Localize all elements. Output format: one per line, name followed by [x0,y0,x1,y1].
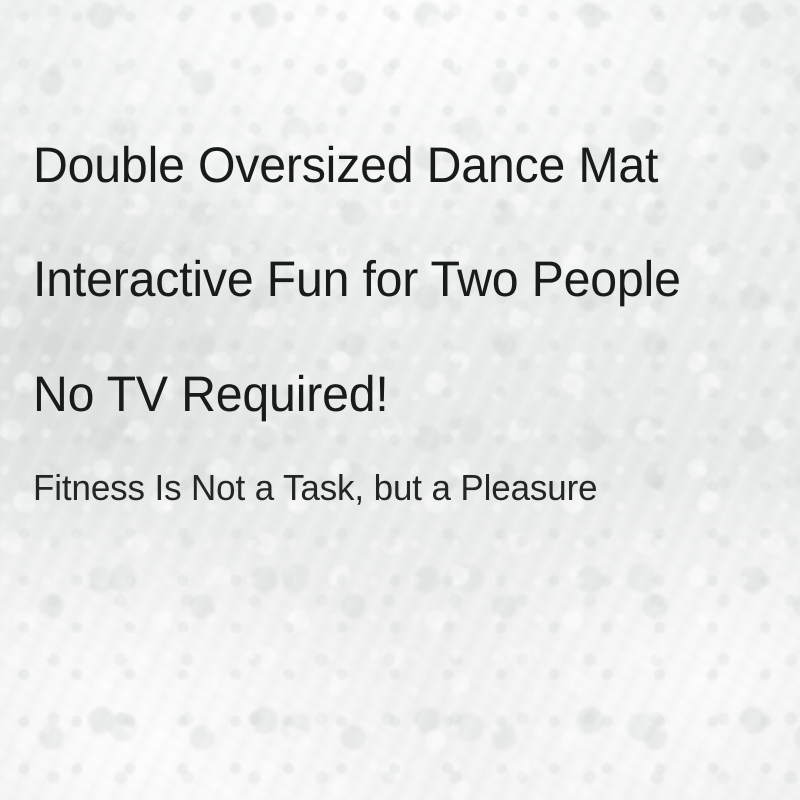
headline-line-1: Double Oversized Dance Mat [33,140,658,190]
headline-text-block: Double Oversized Dance Mat Interactive F… [33,0,793,800]
headline-line-3: No TV Required! [33,369,389,419]
subheadline: Fitness Is Not a Task, but a Pleasure [33,470,597,506]
headline-line-2: Interactive Fun for Two People [33,254,681,304]
marketing-banner: Double Oversized Dance Mat Interactive F… [0,0,800,800]
